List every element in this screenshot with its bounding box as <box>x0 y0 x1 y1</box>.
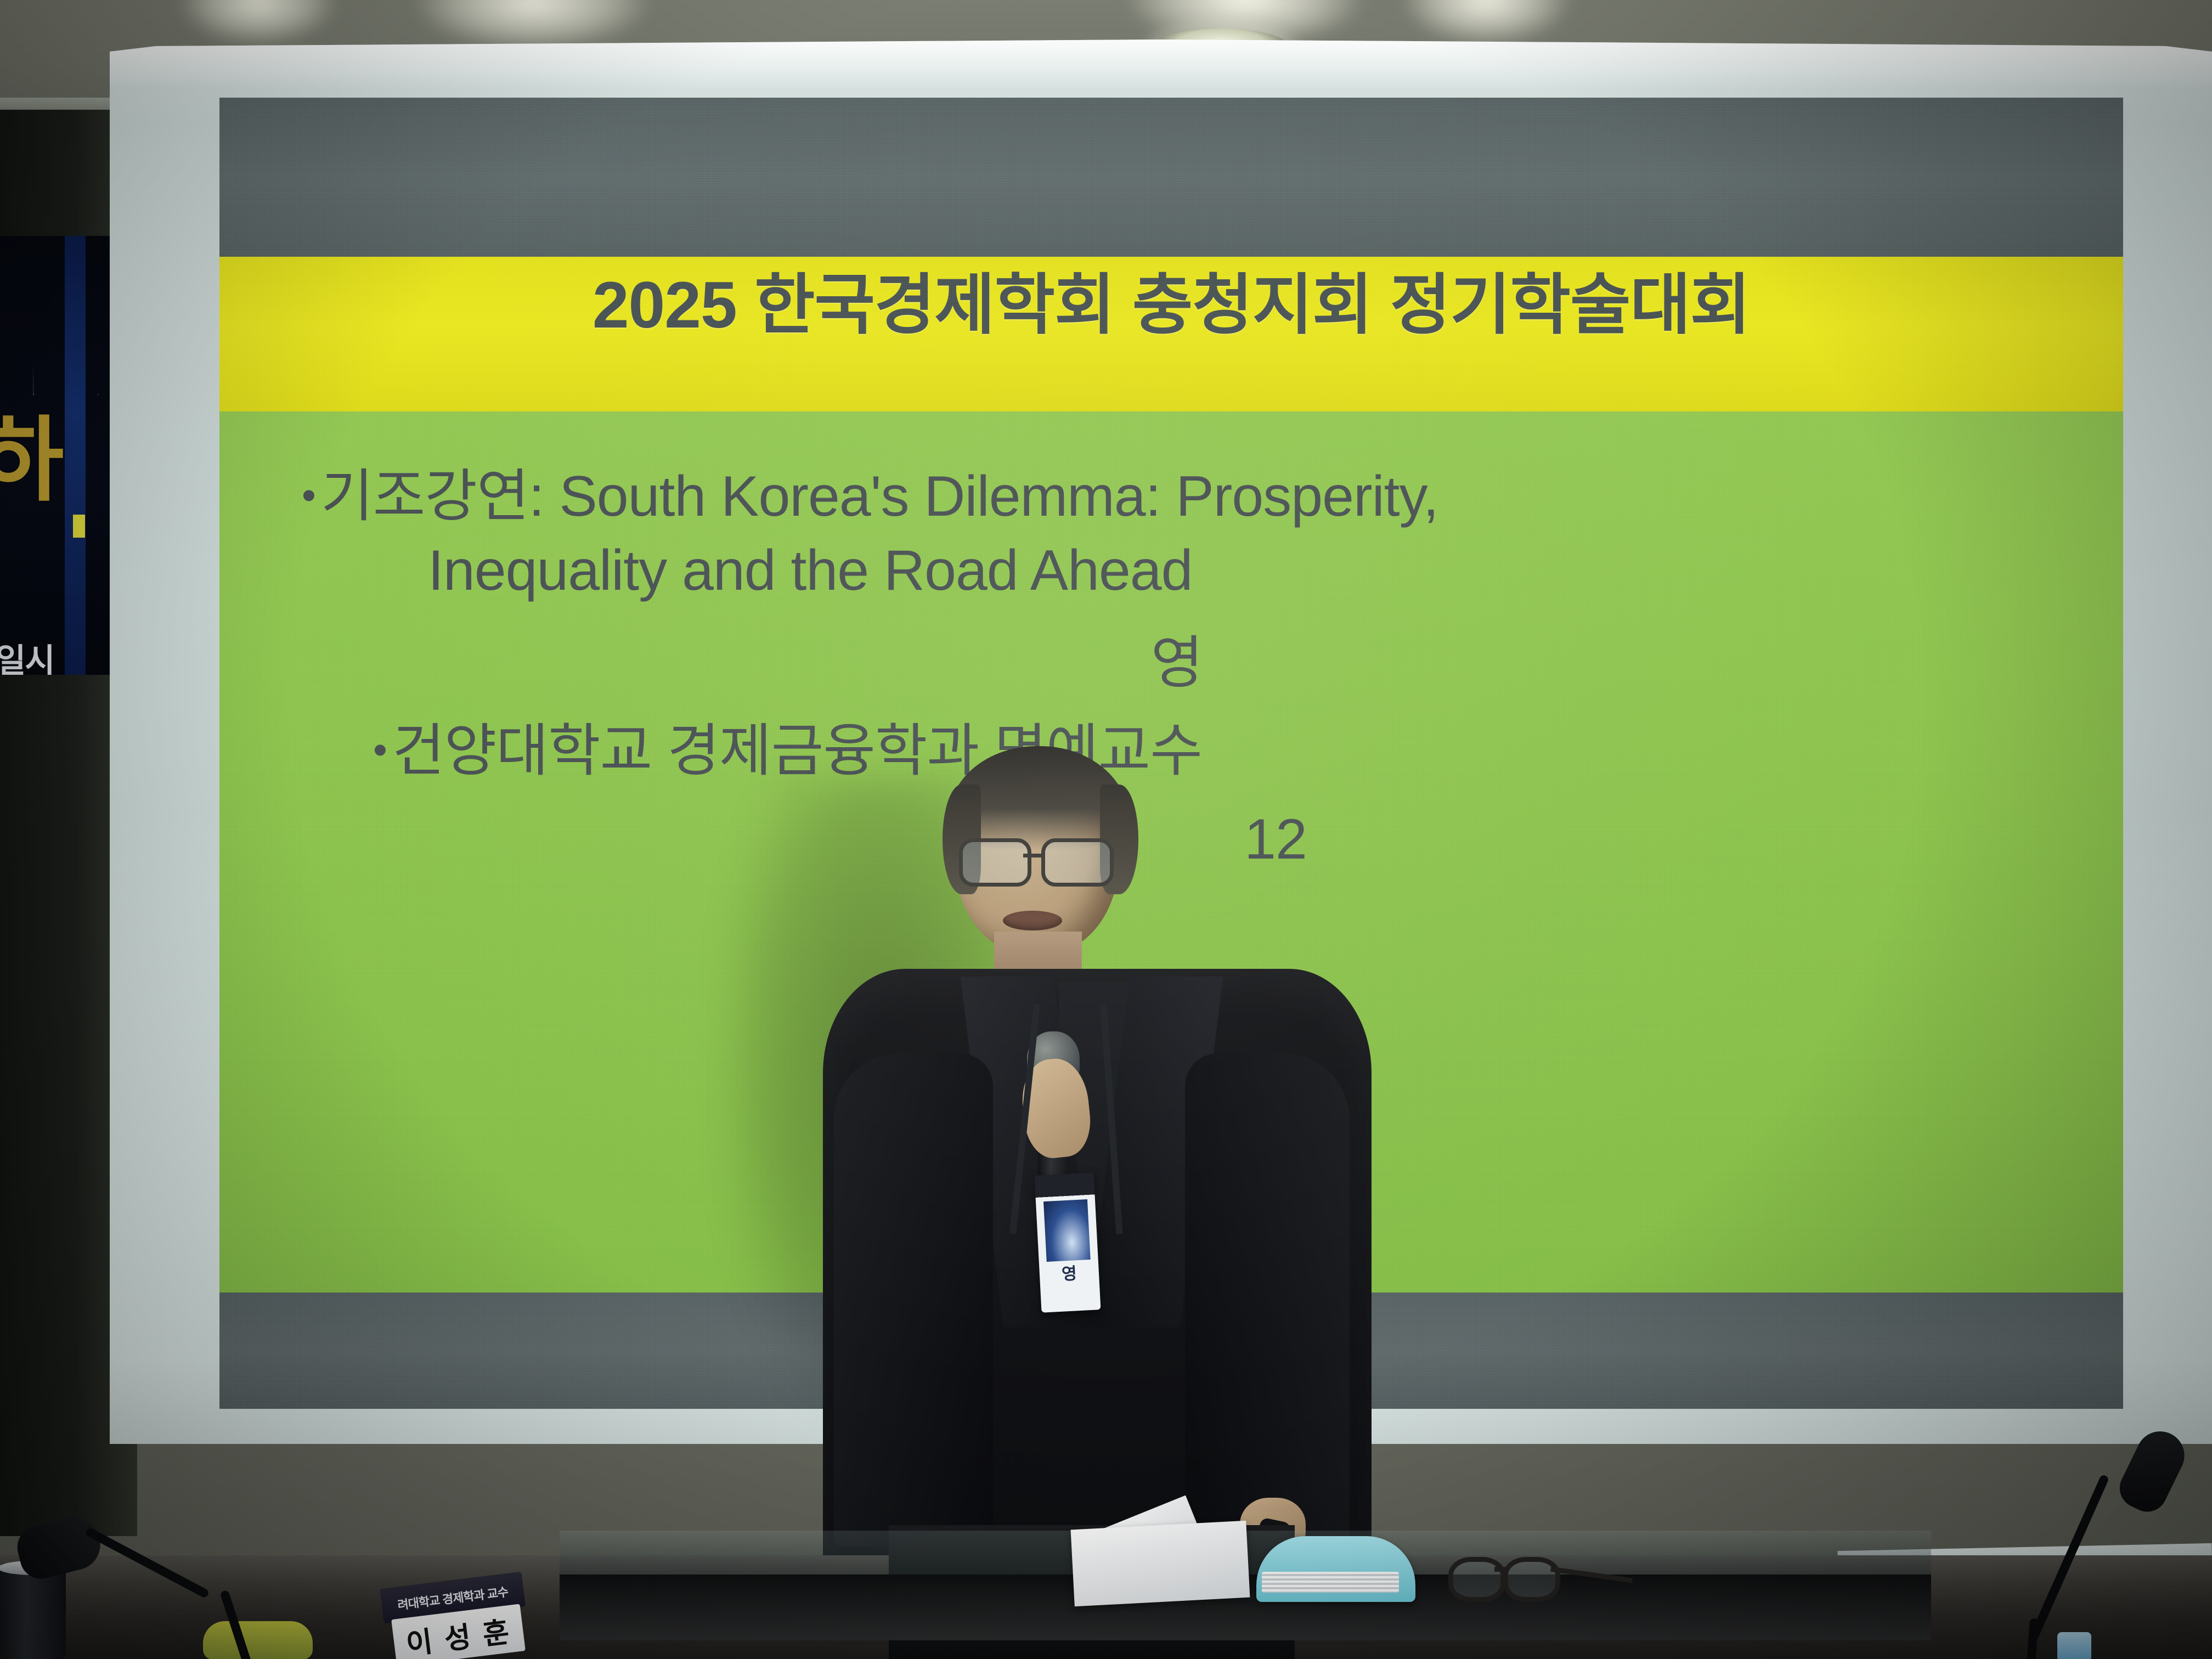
slide-title: 2025 한국경제학회 충청지회 정기학술대회 <box>219 272 2123 338</box>
eyeglasses-bridge <box>1023 854 1043 857</box>
booklet-pages <box>1262 1572 1399 1593</box>
speaker-name-line: 영 <box>302 627 2052 701</box>
paper-cup <box>0 1564 66 1659</box>
eyeglasses-bridge <box>1494 1567 1508 1572</box>
nameplate-name-text: 이 성 훈 <box>403 1609 513 1659</box>
water-bottle-cap <box>2057 1632 2091 1659</box>
bullet-marker-icon: • <box>373 727 392 772</box>
speaker-arm-left <box>834 1053 993 1547</box>
banner-accent-chip <box>73 515 85 538</box>
banner-white-text: 일시 <box>0 645 54 675</box>
snack-item <box>203 1621 313 1659</box>
eyeglasses-icon <box>959 838 1031 887</box>
paper-stack <box>1071 1521 1250 1607</box>
banner-gold-text: 하 <box>0 414 61 506</box>
eyeglasses-icon <box>1448 1557 1505 1602</box>
speaker-mouth <box>1003 911 1062 930</box>
bullet-line: •기조강연: South Korea's Dilemma: Prosperity… <box>302 460 2052 534</box>
photo-scene: 하 일시 2025 한국경제학회 충청지회 정기학술대회 •기조강연: Sout… <box>0 0 2212 1659</box>
eyeglasses-icon <box>1041 838 1114 887</box>
event-banner: 하 일시 <box>0 236 118 675</box>
badge-name-text: 영 <box>1039 1265 1099 1284</box>
badge-graphic <box>1043 1199 1091 1262</box>
banner-network-graphic <box>33 274 99 395</box>
speaker-arm-right <box>1185 1053 1350 1558</box>
eyeglasses-icon <box>1503 1557 1560 1602</box>
speaker-person: 영 <box>801 746 1383 1602</box>
slide-top-band <box>219 98 2123 257</box>
bullet-line-continued: Inequality and the Road Ahead <box>302 534 2052 608</box>
name-badge: 영 <box>1035 1172 1101 1312</box>
bullet-marker-icon: • <box>302 472 321 518</box>
bullet-text: 기조강연: South Korea's Dilemma: Prosperity, <box>321 465 1438 528</box>
